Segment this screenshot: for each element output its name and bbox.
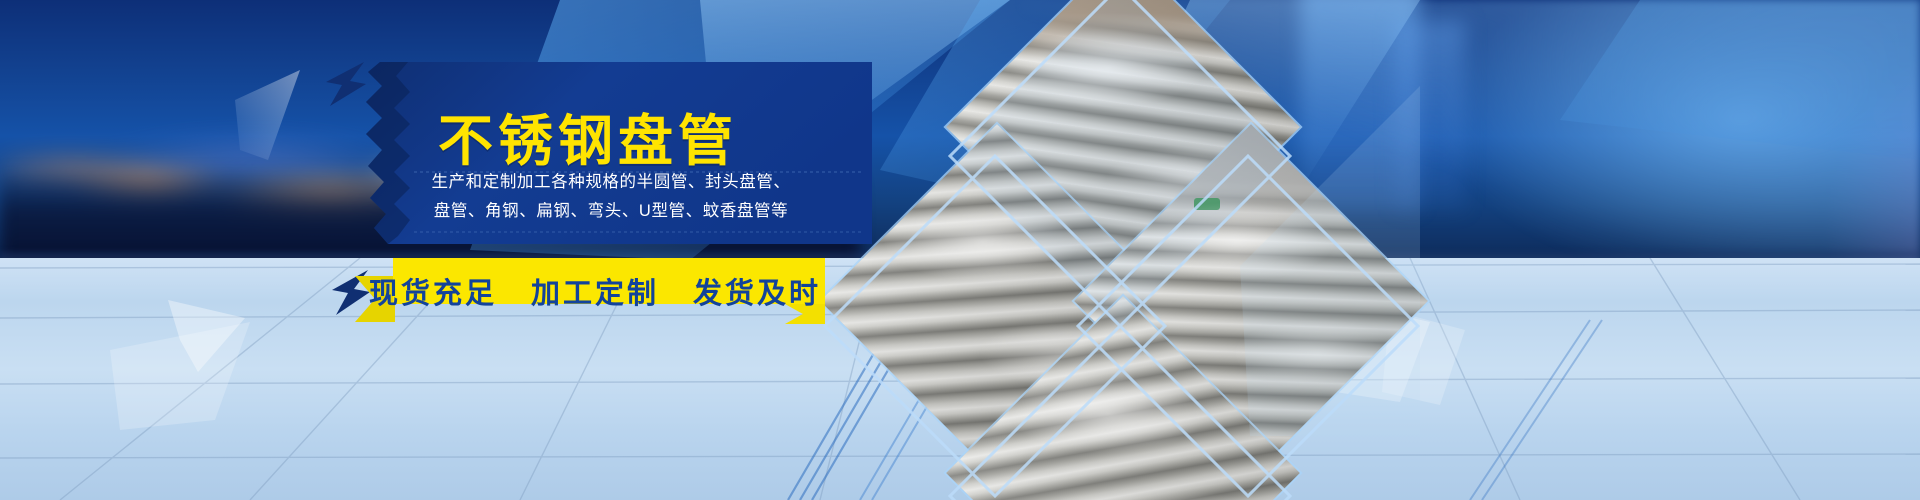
slogan-item-1: 现货充足 (369, 270, 497, 312)
headline-panel: 不锈钢盘管 生产和定制加工各种规格的半圆管、封头盘管、 盘管、角钢、扁钢、弯头、… (352, 56, 872, 250)
slogan-ribbon: 现货充足 加工定制 发货及时 (355, 258, 825, 324)
product-photo-diamond-grid (830, 0, 1410, 500)
subtitle-line-2: 盘管、角钢、扁钢、弯头、U型管、蚊香盘管等 (396, 197, 826, 226)
slogan-list: 现货充足 加工定制 发货及时 (355, 258, 825, 324)
slogan-item-2: 加工定制 (531, 270, 659, 312)
promo-banner: 不锈钢盘管 生产和定制加工各种规格的半圆管、封头盘管、 盘管、角钢、扁钢、弯头、… (0, 0, 1920, 500)
diamond-glass-overlay (820, 0, 1420, 500)
slogan-item-3: 发货及时 (693, 270, 821, 312)
subtitle-line-1: 生产和定制加工各种规格的半圆管、封头盘管、 (396, 168, 826, 197)
page-title: 不锈钢盘管 (438, 96, 738, 176)
subtitle-block: 生产和定制加工各种规格的半圆管、封头盘管、 盘管、角钢、扁钢、弯头、U型管、蚊香… (396, 168, 826, 226)
